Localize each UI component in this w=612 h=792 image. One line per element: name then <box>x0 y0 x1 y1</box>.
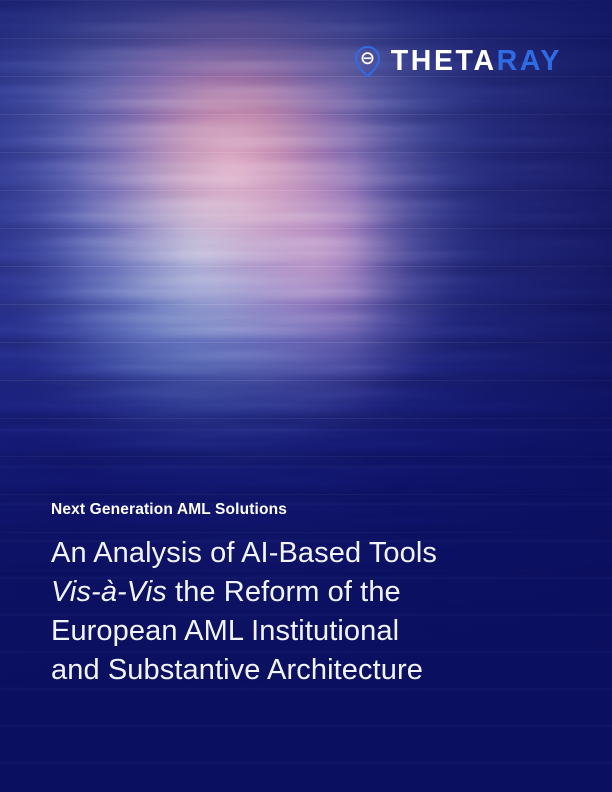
cover-kicker: Next Generation AML Solutions <box>51 501 521 520</box>
title-line-2-text: the Reform of the <box>167 576 401 608</box>
title-line-1: An Analysis of AI-Based Tools <box>51 534 521 573</box>
thetaray-logo: THETARAY <box>355 46 562 77</box>
wordmark-theta: THETA <box>391 47 497 76</box>
title-line-2-italic: Vis-à-Vis <box>51 576 167 608</box>
cover-title-block: Next Generation AML Solutions An Analysi… <box>51 501 521 690</box>
cover-title: An Analysis of AI-Based Tools Vis-à-Vis … <box>51 534 521 690</box>
thetaray-wordmark: THETARAY <box>391 47 562 76</box>
report-cover-page: THETARAY Next Generation AML Solutions A… <box>0 0 612 792</box>
location-pin-theta-icon <box>355 46 380 77</box>
title-line-1-text: An Analysis of AI-Based Tools <box>51 537 437 569</box>
wordmark-ray: RAY <box>497 47 562 76</box>
title-line-2: Vis-à-Vis the Reform of the <box>51 573 521 612</box>
title-line-3: European AML Institutional <box>51 612 521 651</box>
title-line-4-text: and Substantive Architecture <box>51 654 423 686</box>
title-line-4: and Substantive Architecture <box>51 651 521 690</box>
title-line-3-text: European AML Institutional <box>51 615 399 647</box>
